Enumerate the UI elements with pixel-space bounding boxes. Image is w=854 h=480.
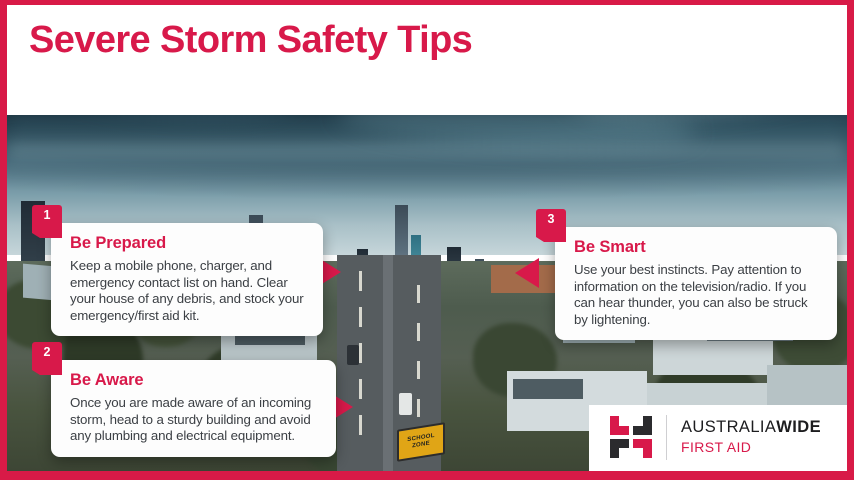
card-number-badge-2: 2 bbox=[32, 342, 62, 368]
tip-card-1[interactable]: Be Prepared Keep a mobile phone, charger… bbox=[51, 223, 323, 336]
cloud-band bbox=[7, 137, 847, 165]
card-number-badge-3: 3 bbox=[536, 209, 566, 235]
tip-card-1-heading: Be Prepared bbox=[70, 234, 308, 253]
poster-inner: SCHOOL ZONE Severe Storm Safety Tips 1 B… bbox=[7, 5, 847, 471]
tip-card-3-heading: Be Smart bbox=[574, 238, 822, 257]
logo-wordmark: AUSTRALIAWIDE FIRST AID bbox=[681, 418, 821, 455]
tip-card-1-body: Keep a mobile phone, charger, and emerge… bbox=[70, 258, 308, 324]
tip-card-2-heading: Be Aware bbox=[70, 371, 321, 390]
logo-line-1: AUSTRALIAWIDE bbox=[681, 418, 821, 437]
tip-card-2-body: Once you are made aware of an incoming s… bbox=[70, 395, 321, 445]
sign-line-2: ZONE bbox=[412, 441, 430, 451]
logo-australia: AUSTRALIA bbox=[681, 418, 776, 436]
australia-wide-cross-icon bbox=[610, 416, 652, 458]
tip-card-2[interactable]: Be Aware Once you are made aware of an i… bbox=[51, 360, 336, 457]
brand-logo-block[interactable]: AUSTRALIAWIDE FIRST AID bbox=[589, 405, 847, 471]
card-pointer-triangle-3 bbox=[515, 258, 539, 288]
tip-card-3-body: Use your best instincts. Pay attention t… bbox=[574, 262, 822, 328]
poster-frame: SCHOOL ZONE Severe Storm Safety Tips 1 B… bbox=[0, 0, 854, 480]
tip-card-3[interactable]: Be Smart Use your best instincts. Pay at… bbox=[555, 227, 837, 340]
logo-line-2: FIRST AID bbox=[681, 439, 821, 455]
logo-wide: WIDE bbox=[776, 418, 821, 436]
card-number-badge-1: 1 bbox=[32, 205, 62, 231]
logo-divider bbox=[666, 415, 667, 460]
